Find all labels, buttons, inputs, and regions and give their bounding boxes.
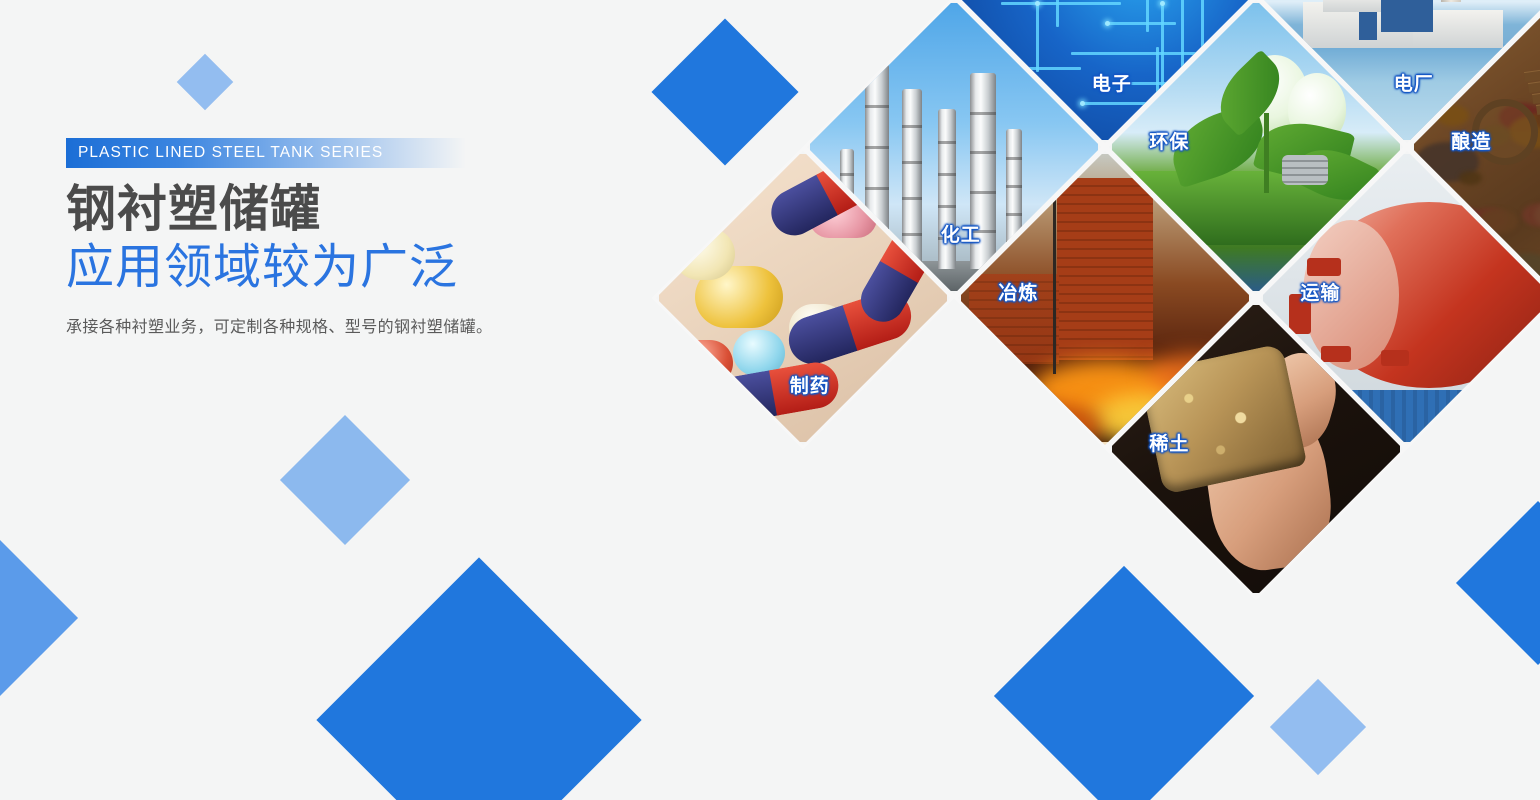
diamond-top-left-light-icon xyxy=(177,54,234,111)
industry-tile-label: 运输 xyxy=(1300,278,1340,305)
diamond-left-edge-medium-icon xyxy=(0,536,78,700)
hero-description: 承接各种衬塑业务，可定制各种规格、型号的钢衬塑储罐。 xyxy=(66,313,686,337)
hero-text-block: PLASTIC LINED STEEL TANK SERIES 钢衬塑储罐 应用… xyxy=(66,138,686,337)
industry-tile-label: 制药 xyxy=(790,371,830,398)
industry-tile-label: 稀土 xyxy=(1149,429,1189,456)
industry-diamond-mosaic: 电子电厂化工环保酿造制药冶炼运输稀土 xyxy=(645,0,1475,800)
diamond-lower-left-strong-icon xyxy=(316,557,641,800)
page-title: 钢衬塑储罐 xyxy=(66,182,686,236)
eyebrow-banner: PLASTIC LINED STEEL TANK SERIES xyxy=(66,138,466,168)
industry-tile-label: 电子 xyxy=(1092,69,1132,96)
industry-tile-label: 酿造 xyxy=(1451,127,1491,154)
diamond-mid-left-light-icon xyxy=(280,415,410,545)
industry-tile-label: 电厂 xyxy=(1394,69,1434,96)
page-subtitle: 应用领域较为广泛 xyxy=(66,242,686,295)
industry-tile-label: 冶炼 xyxy=(998,278,1038,305)
promo-banner: PLASTIC LINED STEEL TANK SERIES 钢衬塑储罐 应用… xyxy=(0,0,1540,800)
industry-tile-label: 环保 xyxy=(1149,127,1189,154)
industry-tile-label: 化工 xyxy=(941,220,981,247)
